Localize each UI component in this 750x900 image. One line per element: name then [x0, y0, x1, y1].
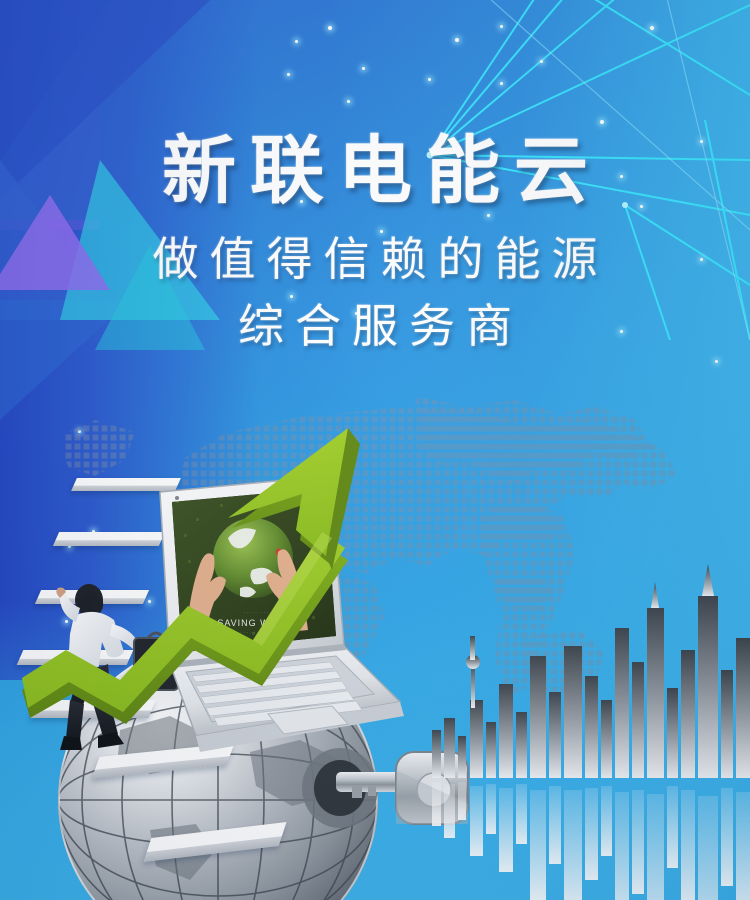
promo-banner: 新联电能云 做值得信赖的能源 综合服务商 [0, 0, 750, 900]
facet-shape [95, 245, 205, 350]
facet-shape [0, 195, 110, 290]
cyan-network-lines [420, 0, 750, 340]
green-3d-growth-arrow [0, 400, 750, 900]
polygon-facets [0, 0, 300, 330]
hero-artwork: SAVING WORLD · · · · · · · · · · · · · ·… [0, 400, 750, 900]
